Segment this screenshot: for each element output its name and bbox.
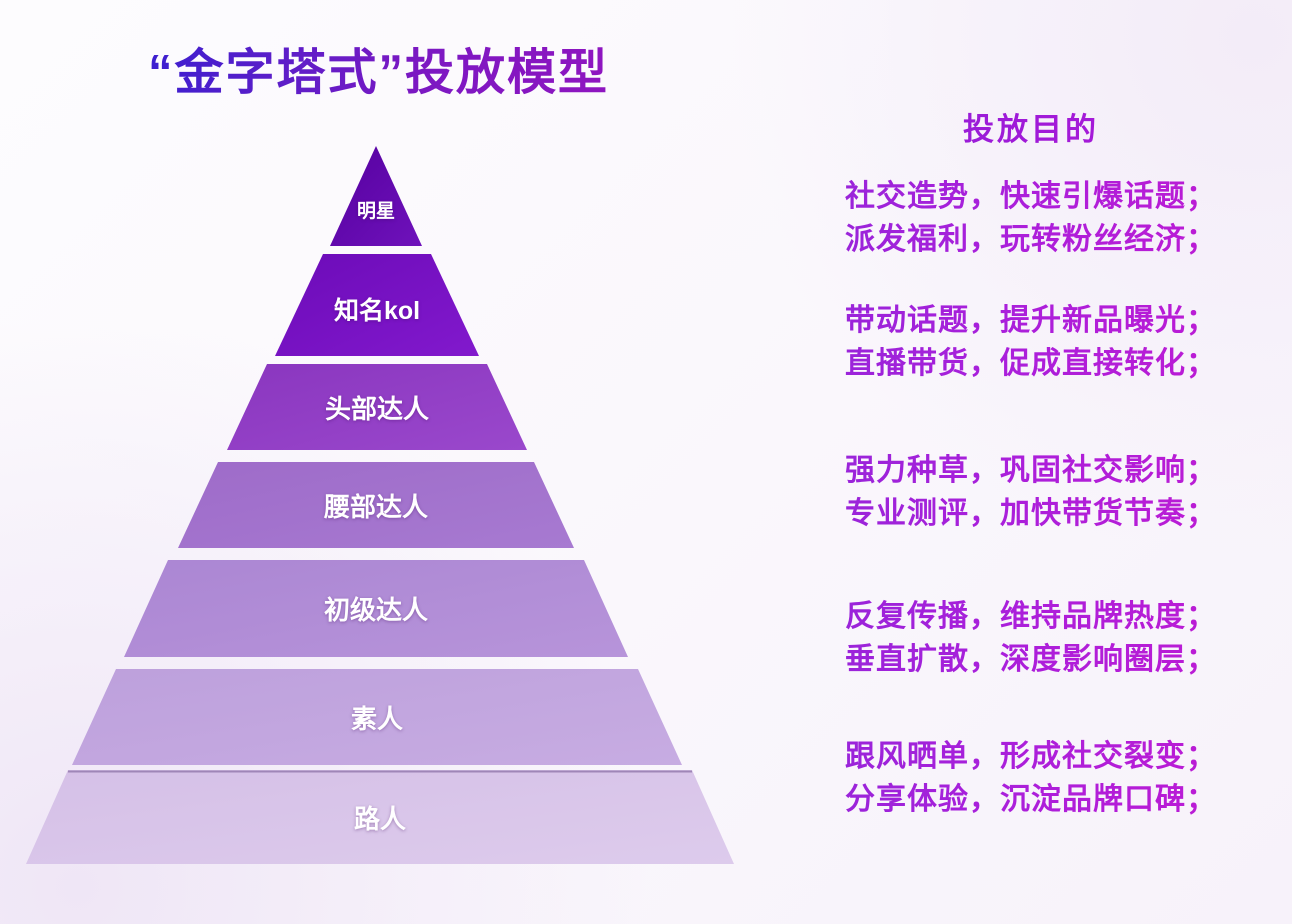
pyramid-tier-7-label: 路人 (354, 799, 406, 836)
pyramid-tier-4[interactable]: 腰部达人 (178, 462, 574, 548)
purpose-block-4: 反复传播，维持品牌热度； 垂直扩散，深度影响圈层； (770, 596, 1292, 681)
purpose-line: 分享体验，沉淀品牌口碑； (770, 779, 1292, 822)
purpose-heading: 投放目的 (770, 104, 1292, 149)
purpose-line: 强力种草，巩固社交影响； (770, 450, 1292, 493)
purpose-line: 专业测评，加快带货节奏； (770, 493, 1292, 536)
pyramid-tier-2-label: 知名kol (334, 291, 420, 327)
purpose-line: 社交造势，快速引爆话题； (770, 176, 1292, 219)
pyramid-tier-6-label: 素人 (351, 699, 403, 736)
purpose-block-5: 跟风晒单，形成社交裂变； 分享体验，沉淀品牌口碑； (770, 736, 1292, 821)
pyramid-tier-4-label: 腰部达人 (324, 487, 428, 524)
purpose-line: 直播带货，促成直接转化； (770, 343, 1292, 386)
purpose-column: 投放目的 社交造势，快速引爆话题； 派发福利，玩转粉丝经济； 带动话题，提升新品… (770, 0, 1292, 924)
purpose-block-3: 强力种草，巩固社交影响； 专业测评，加快带货节奏； (770, 450, 1292, 535)
pyramid-tier-6[interactable]: 素人 (72, 669, 682, 765)
purpose-line: 带动话题，提升新品曝光； (770, 300, 1292, 343)
pyramid-tier-1[interactable]: 明星 (330, 146, 422, 246)
purpose-block-2: 带动话题，提升新品曝光； 直播带货，促成直接转化； (770, 300, 1292, 385)
purpose-line: 垂直扩散，深度影响圈层； (770, 639, 1292, 682)
purpose-line: 跟风晒单，形成社交裂变； (770, 736, 1292, 779)
pyramid-tier-3[interactable]: 头部达人 (227, 364, 527, 450)
pyramid-diagram: 明星 知名kol 头部达人 腰部达人 (0, 0, 780, 924)
pyramid-tier-1-label: 明星 (357, 196, 395, 223)
purpose-line: 反复传播，维持品牌热度； (770, 596, 1292, 639)
pyramid-tier-5[interactable]: 初级达人 (124, 560, 628, 657)
pyramid-tier-5-label: 初级达人 (324, 590, 428, 627)
purpose-line: 派发福利，玩转粉丝经济； (770, 219, 1292, 262)
purpose-block-1: 社交造势，快速引爆话题； 派发福利，玩转粉丝经济； (770, 176, 1292, 261)
pyramid-tier-7[interactable]: 路人 (26, 770, 734, 864)
pyramid-tier-3-label: 头部达人 (325, 389, 429, 426)
pyramid-tier-2[interactable]: 知名kol (275, 254, 479, 356)
